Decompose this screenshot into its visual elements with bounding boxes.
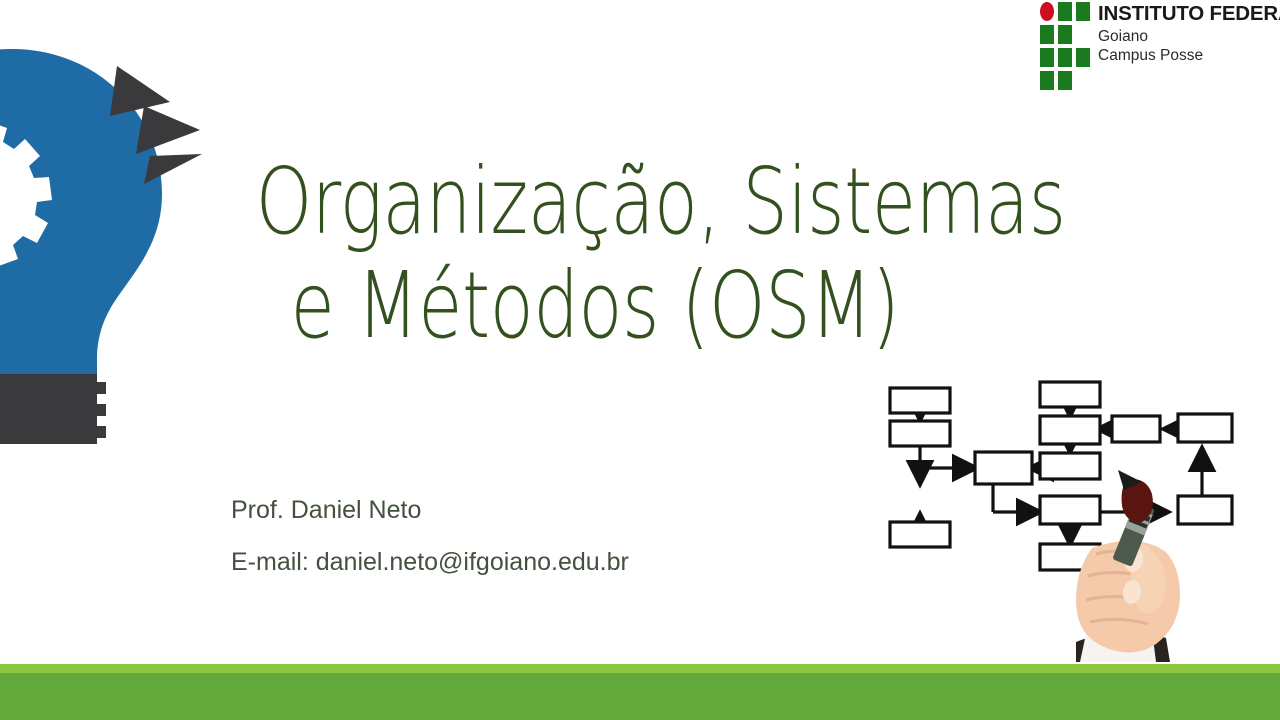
flow-box [890, 388, 950, 413]
flow-box [1040, 416, 1100, 444]
flow-box [975, 452, 1032, 484]
flow-box [1112, 416, 1160, 442]
flow-box [890, 421, 950, 446]
if-logo-mark-icon [1040, 2, 1092, 90]
logo-campus-state: Goiano [1098, 29, 1280, 45]
author-block: Prof. Daniel Neto E-mail: daniel.neto@if… [231, 498, 629, 575]
flow-box [1040, 453, 1100, 479]
footer-bar-main [0, 673, 1280, 720]
institutional-logo: INSTITUTO FEDERAL Goiano Campus Posse [1040, 2, 1272, 94]
flow-box [1040, 382, 1100, 407]
flow-box [1178, 414, 1232, 442]
flow-box [1178, 496, 1232, 524]
author-name: Prof. Daniel Neto [231, 498, 629, 523]
flow-box [890, 522, 950, 547]
logo-campus-name: Campus Posse [1098, 48, 1280, 64]
flow-box [1040, 496, 1100, 524]
title-line-1: Organização, Sistemas [256, 150, 935, 254]
page-title: Organização, Sistemas e Métodos (OSM) [160, 150, 1030, 358]
footer-bar-light [0, 664, 1280, 673]
logo-text: INSTITUTO FEDERAL Goiano Campus Posse [1098, 2, 1280, 64]
title-line-2: e Métodos (OSM) [256, 254, 935, 358]
hand-drawing-flowchart-photo [880, 372, 1240, 662]
logo-title: INSTITUTO FEDERAL [1098, 4, 1280, 25]
bulb-base [0, 374, 97, 444]
title-slide: Organização, Sistemas e Métodos (OSM) Pr… [0, 0, 1280, 720]
author-email: E-mail: daniel.neto@ifgoiano.edu.br [231, 550, 629, 575]
